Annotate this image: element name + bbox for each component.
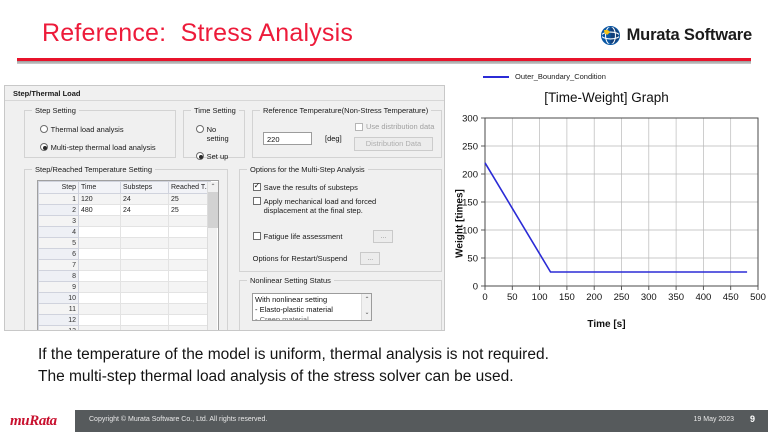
step-thermal-load-dialog: Step/Thermal Load Step Setting Thermal l…: [4, 85, 445, 331]
table-cell[interactable]: [121, 293, 169, 304]
chart-plot: 0501001502002503003504004505000501001502…: [445, 110, 768, 320]
table-cell[interactable]: [169, 249, 211, 260]
group-nonlinear-setting-status-label: Nonlinear Setting Status: [247, 276, 334, 285]
radio-multistep-thermal-load-analysis[interactable]: Multi-step thermal load analysis: [40, 143, 170, 152]
step-table-wrapper: Step Time Substeps Reached T... 11202425…: [37, 180, 219, 331]
table-cell[interactable]: [169, 227, 211, 238]
radio-set-up-label: Set up: [207, 152, 229, 161]
cell-step-index[interactable]: 11: [39, 304, 79, 315]
chart-x-axis-title: Time [s]: [445, 319, 768, 330]
slide-body-text: If the temperature of the model is unifo…: [38, 344, 738, 388]
table-cell[interactable]: [121, 282, 169, 293]
group-step-setting: Step Setting Thermal load analysis Multi…: [24, 110, 176, 158]
group-time-setting-label: Time Setting: [191, 106, 239, 115]
step-table[interactable]: Step Time Substeps Reached T... 11202425…: [38, 181, 211, 331]
y-tick-label: 200: [462, 169, 478, 180]
y-tick-label: 250: [462, 141, 478, 152]
nonlinear-status-line-1: With nonlinear setting: [255, 295, 371, 305]
radio-thermal-load-analysis[interactable]: Thermal load analysis: [40, 125, 170, 134]
table-cell[interactable]: [121, 315, 169, 326]
reference-temperature-input[interactable]: 220: [263, 132, 312, 145]
x-tick-label: 200: [586, 292, 602, 303]
body-line-2: The multi-step thermal load analysis of …: [38, 366, 738, 388]
x-tick-label: 150: [559, 292, 575, 303]
y-tick-label: 300: [462, 113, 478, 124]
row-restart-suspend[interactable]: Options for Restart/Suspend ...: [253, 252, 436, 265]
checkbox-save-substeps-box: [253, 183, 261, 191]
checkbox-use-distribution-data-label: Use distribution data: [366, 122, 434, 131]
checkbox-save-substeps-label: Save the results of substeps: [264, 183, 358, 192]
chart-tick-labels: 0501001502002503003504004505000501001502…: [462, 113, 766, 303]
table-cell[interactable]: [121, 216, 169, 227]
scroll-up-icon[interactable]: ⌃: [208, 182, 218, 192]
table-cell[interactable]: 24: [121, 194, 169, 205]
table-cell[interactable]: [169, 271, 211, 282]
table-cell[interactable]: [169, 315, 211, 326]
column-header-step[interactable]: Step: [39, 182, 79, 194]
y-tick-label: 0: [473, 281, 478, 292]
x-tick-label: 300: [641, 292, 657, 303]
brand-lockup: Murata Software: [601, 26, 752, 45]
table-row[interactable]: 5: [39, 238, 211, 249]
table-row[interactable]: 7: [39, 260, 211, 271]
table-row[interactable]: 6: [39, 249, 211, 260]
radio-set-up[interactable]: Set up: [196, 152, 239, 161]
cell-step-index[interactable]: 6: [39, 249, 79, 260]
nonlinear-scroll-down-icon[interactable]: ⌄: [362, 307, 372, 320]
cell-step-index[interactable]: 1: [39, 194, 79, 205]
group-step-reached-temperature-label: Step/Reached Temperature Setting: [32, 165, 155, 174]
checkbox-apply-mechanical-load-label: Apply mechanical load and forced displac…: [264, 197, 414, 215]
cell-step-index[interactable]: 13: [39, 326, 79, 332]
table-cell[interactable]: [121, 227, 169, 238]
page-title: Reference: Stress Analysis: [42, 19, 353, 48]
table-row[interactable]: 11: [39, 304, 211, 315]
table-cell[interactable]: [169, 304, 211, 315]
radio-no-setting-label: No setting: [207, 125, 239, 143]
group-reference-temperature: Reference Temperature(Non-Stress Tempera…: [252, 110, 442, 158]
scrollbar-thumb[interactable]: [208, 192, 218, 228]
table-row[interactable]: 4: [39, 227, 211, 238]
table-cell[interactable]: [169, 216, 211, 227]
group-time-setting: Time Setting No setting Set up: [183, 110, 245, 158]
nonlinear-status-line-2: - Elasto-plastic material: [255, 305, 371, 315]
row-fatigue-life-assessment[interactable]: Fatigue life assessment ...: [253, 230, 436, 243]
radio-multistep-thermal-load-analysis-label: Multi-step thermal load analysis: [51, 143, 156, 152]
table-cell[interactable]: [79, 260, 121, 271]
slide-footer: muRata Copyright © Murata Software Co., …: [0, 410, 768, 432]
brand-name: Murata Software: [627, 26, 752, 45]
group-nonlinear-setting-status: Nonlinear Setting Status With nonlinear …: [239, 280, 442, 331]
table-cell[interactable]: 120: [79, 194, 121, 205]
cell-step-index[interactable]: 2: [39, 205, 79, 216]
radio-multistep-thermal-load-analysis-dot: [40, 143, 48, 151]
table-cell[interactable]: [79, 315, 121, 326]
group-multistep-options: Options for the Multi-Step Analysis Save…: [239, 169, 442, 272]
restart-suspend-ellipsis-button[interactable]: ...: [360, 252, 380, 265]
table-cell[interactable]: [169, 282, 211, 293]
globe-icon: [601, 26, 620, 45]
table-cell[interactable]: [121, 249, 169, 260]
cell-step-index[interactable]: 3: [39, 216, 79, 227]
cell-step-index[interactable]: 5: [39, 238, 79, 249]
checkbox-fatigue-life-box: [253, 232, 261, 240]
table-cell[interactable]: 480: [79, 205, 121, 216]
checkbox-apply-mechanical-load-box: [253, 197, 261, 205]
nonlinear-list-scrollbar[interactable]: ⌃ ⌄: [361, 294, 371, 320]
cell-step-index[interactable]: 4: [39, 227, 79, 238]
table-cell[interactable]: [79, 238, 121, 249]
radio-no-setting[interactable]: No setting: [196, 125, 239, 143]
footer-copyright: Copyright © Murata Software Co., Ltd. Al…: [89, 416, 267, 423]
table-row[interactable]: 11202425: [39, 194, 211, 205]
legend-swatch-outer-boundary-condition: [483, 76, 509, 78]
chart-legend: Outer_Boundary_Condition: [483, 72, 606, 81]
table-cell[interactable]: [121, 326, 169, 332]
nonlinear-scroll-up-icon[interactable]: ⌃: [362, 294, 372, 307]
table-cell[interactable]: 25: [169, 205, 211, 216]
time-weight-chart: Outer_Boundary_Condition [Time-Weight] G…: [445, 66, 768, 338]
reference-temperature-unit: [deg]: [325, 134, 342, 143]
x-tick-label: 350: [668, 292, 684, 303]
table-row[interactable]: 13: [39, 326, 211, 332]
table-cell[interactable]: [121, 271, 169, 282]
x-tick-label: 100: [532, 292, 548, 303]
footer-page-number: 9: [750, 414, 755, 424]
murata-logo: muRata: [10, 413, 57, 430]
table-cell[interactable]: [169, 260, 211, 271]
table-cell[interactable]: [79, 293, 121, 304]
body-line-1: If the temperature of the model is unifo…: [38, 344, 738, 366]
cell-step-index[interactable]: 8: [39, 271, 79, 282]
checkbox-save-substeps[interactable]: Save the results of substeps: [253, 183, 436, 192]
table-cell[interactable]: 24: [121, 205, 169, 216]
radio-thermal-load-analysis-label: Thermal load analysis: [51, 125, 124, 134]
group-reference-temperature-label: Reference Temperature(Non-Stress Tempera…: [260, 106, 431, 115]
legend-label-outer-boundary-condition: Outer_Boundary_Condition: [515, 72, 606, 81]
checkbox-apply-mechanical-load[interactable]: Apply mechanical load and forced displac…: [253, 197, 436, 215]
chart-title: [Time-Weight] Graph: [445, 90, 768, 105]
table-row[interactable]: 12: [39, 315, 211, 326]
distribution-data-button[interactable]: Distribution Data: [354, 137, 433, 151]
cell-step-index[interactable]: 10: [39, 293, 79, 304]
checkbox-fatigue-life-label: Fatigue life assessment: [264, 232, 343, 241]
column-header-substeps[interactable]: Substeps: [121, 182, 169, 194]
slide-header: Reference: Stress Analysis Murata Softwa…: [0, 0, 768, 68]
table-cell[interactable]: [79, 271, 121, 282]
table-cell[interactable]: [79, 304, 121, 315]
x-tick-label: 0: [482, 292, 487, 303]
table-cell[interactable]: [121, 304, 169, 315]
checkbox-use-distribution-data-box: [355, 123, 363, 131]
cell-step-index[interactable]: 12: [39, 315, 79, 326]
dialog-titlebar: Step/Thermal Load: [5, 86, 445, 101]
x-tick-label: 450: [723, 292, 739, 303]
group-multistep-options-label: Options for the Multi-Step Analysis: [247, 165, 368, 174]
table-cell[interactable]: [121, 260, 169, 271]
step-table-scrollbar[interactable]: ⌃: [207, 182, 217, 331]
table-cell[interactable]: [79, 227, 121, 238]
radio-set-up-dot: [196, 152, 204, 160]
table-cell[interactable]: [169, 293, 211, 304]
table-cell[interactable]: [79, 249, 121, 260]
x-tick-label: 400: [695, 292, 711, 303]
table-cell[interactable]: 25: [169, 194, 211, 205]
table-row[interactable]: 9: [39, 282, 211, 293]
table-cell[interactable]: [79, 216, 121, 227]
column-header-reached-temp[interactable]: Reached T...: [169, 182, 211, 194]
table-cell[interactable]: [169, 238, 211, 249]
y-tick-label: 50: [467, 253, 478, 264]
cell-step-index[interactable]: 9: [39, 282, 79, 293]
table-row[interactable]: 10: [39, 293, 211, 304]
chart-y-axis-title: Weight [times]: [455, 181, 466, 267]
restart-suspend-label: Options for Restart/Suspend: [253, 254, 348, 263]
column-header-time[interactable]: Time: [79, 182, 121, 194]
table-row[interactable]: 24802425: [39, 205, 211, 216]
footer-bar: Copyright © Murata Software Co., Ltd. Al…: [75, 410, 768, 432]
chart-gridlines: [481, 118, 758, 290]
nonlinear-status-line-3: - Creep material: [255, 315, 371, 321]
radio-thermal-load-analysis-dot: [40, 125, 48, 133]
table-cell[interactable]: [79, 282, 121, 293]
table-cell[interactable]: [121, 238, 169, 249]
x-tick-label: 500: [750, 292, 766, 303]
x-tick-label: 250: [614, 292, 630, 303]
radio-no-setting-dot: [196, 125, 204, 133]
x-tick-label: 50: [507, 292, 518, 303]
nonlinear-status-list[interactable]: With nonlinear setting - Elasto-plastic …: [252, 293, 372, 321]
footer-date: 19 May 2023: [694, 416, 734, 423]
table-header-row: Step Time Substeps Reached T...: [39, 182, 211, 194]
cell-step-index[interactable]: 7: [39, 260, 79, 271]
group-step-setting-label: Step Setting: [32, 106, 79, 115]
group-step-reached-temperature: Step/Reached Temperature Setting Step Ti…: [24, 169, 228, 331]
table-cell[interactable]: [79, 326, 121, 332]
header-rule-grey: [17, 61, 751, 64]
table-row[interactable]: 3: [39, 216, 211, 227]
table-row[interactable]: 8: [39, 271, 211, 282]
checkbox-use-distribution-data[interactable]: Use distribution data: [355, 122, 434, 131]
fatigue-life-ellipsis-button[interactable]: ...: [373, 230, 393, 243]
chart-series-line: [485, 163, 747, 272]
table-cell[interactable]: [169, 326, 211, 332]
